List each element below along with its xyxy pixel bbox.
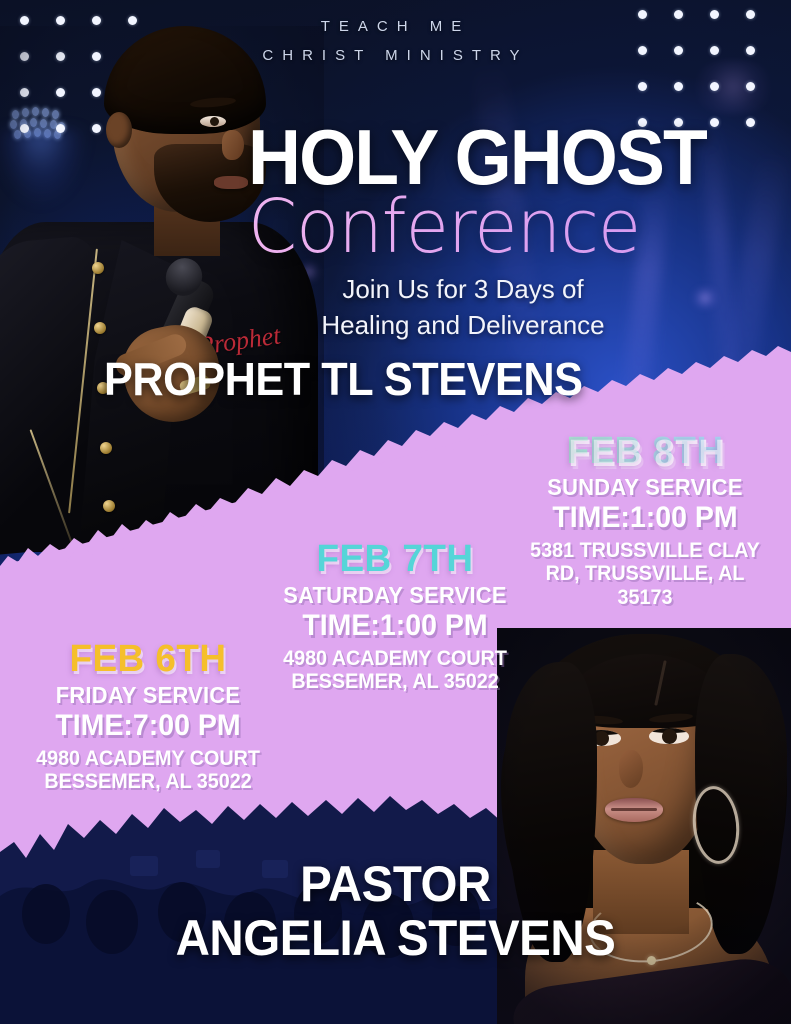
page-title: HOLY GHOST	[248, 124, 706, 191]
pastor-title: PASTOR	[20, 858, 771, 910]
schedule-address-line-2: BESSEMER, AL 35022	[18, 770, 277, 794]
schedule-item-feb8: FEB 8TH SUNDAY SERVICE TIME:1:00 PM 5381…	[500, 432, 790, 609]
holy-ghost-conference-flyer: TEACH ME CHRIST MINISTRY Prophet HOLY GH…	[0, 0, 791, 1024]
ministry-line-2: CHRIST MINISTRY	[0, 41, 791, 70]
schedule-address-line-3: 35173	[509, 586, 782, 610]
schedule-service-name: SATURDAY SERVICE	[257, 582, 533, 608]
schedule-date: FEB 7TH	[254, 540, 535, 580]
schedule-address-line-1: 4980 ACADEMY COURT	[259, 647, 532, 671]
schedule-address-line-1: 4980 ACADEMY COURT	[18, 747, 277, 771]
speaker-name: PROPHET TL STEVENS	[104, 352, 582, 406]
schedule-service-name: FRIDAY SERVICE	[17, 682, 279, 708]
schedule-date: FEB 6TH	[14, 640, 282, 680]
page-subtitle-script: Conference	[248, 192, 640, 263]
schedule-time: TIME:1:00 PM	[257, 609, 533, 643]
pastor-full-name: ANGELIA STEVENS	[20, 912, 771, 965]
schedule-item-feb7: FEB 7TH SATURDAY SERVICE TIME:1:00 PM 49…	[250, 540, 540, 694]
schedule-address-line-2: BESSEMER, AL 35022	[259, 670, 532, 694]
event-tagline: Join Us for 3 Days of Healing and Delive…	[248, 272, 678, 343]
schedule-time: TIME:1:00 PM	[507, 501, 783, 535]
pastor-name: PASTOR ANGELIA STEVENS	[0, 858, 791, 965]
schedule-service-name: SUNDAY SERVICE	[507, 474, 783, 500]
ministry-line-1: TEACH ME	[0, 12, 791, 41]
schedule-address-line-1: 5381 TRUSSVILLE CLAY	[509, 539, 782, 563]
tagline-line-2: Healing and Deliverance	[248, 308, 678, 344]
schedule-item-feb6: FEB 6TH FRIDAY SERVICE TIME:7:00 PM 4980…	[10, 640, 286, 794]
schedule-time: TIME:7:00 PM	[17, 709, 279, 743]
ministry-name: TEACH ME CHRIST MINISTRY	[0, 12, 791, 70]
tagline-line-1: Join Us for 3 Days of	[248, 272, 678, 308]
schedule-address-line-2: RD, TRUSSVILLE, AL	[509, 562, 782, 586]
schedule-date: FEB 8TH	[504, 432, 785, 472]
